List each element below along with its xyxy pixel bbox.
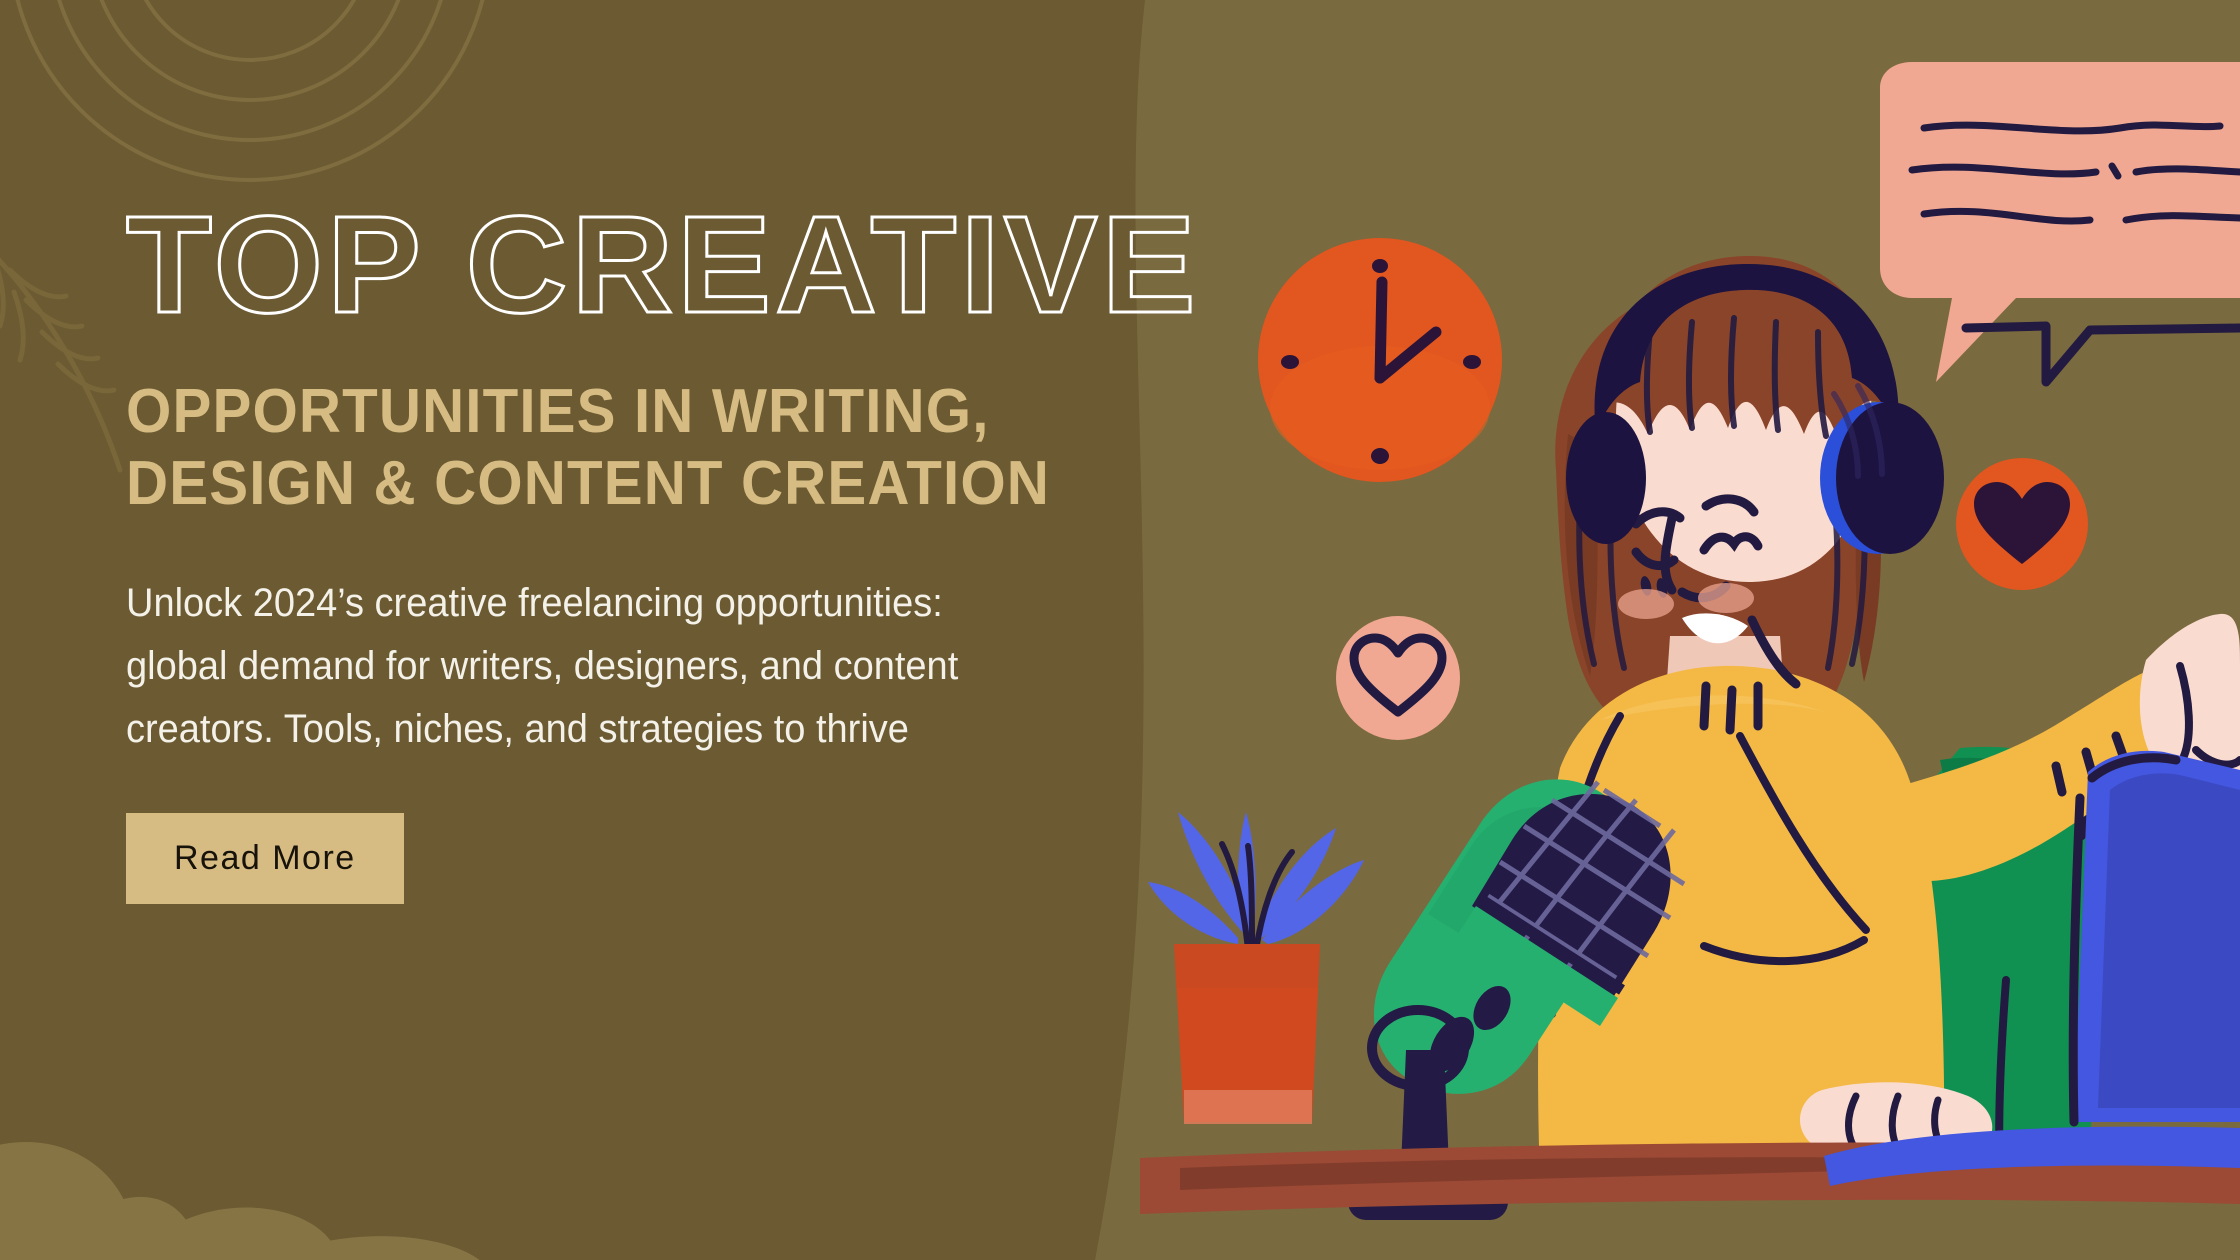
subheadline-line-2: DESIGN & CONTENT CREATION bbox=[126, 448, 1141, 520]
read-more-button[interactable]: Read More bbox=[126, 813, 404, 904]
body-copy: Unlock 2024’s creative freelancing oppor… bbox=[126, 572, 1152, 762]
pink-heart-badge bbox=[1336, 616, 1460, 740]
promo-banner: TOP CREATIVE OPPORTUNITIES IN WRITING, D… bbox=[0, 0, 2240, 1260]
body-copy-line-3: creators. Tools, niches, and strategies … bbox=[126, 698, 1152, 761]
pink-speech-bubble bbox=[1880, 62, 2240, 382]
wall-clock bbox=[1258, 238, 1502, 482]
subheadline-line-1: OPPORTUNITIES IN WRITING, bbox=[126, 376, 1141, 448]
body-copy-line-1: Unlock 2024’s creative freelancing oppor… bbox=[126, 572, 1152, 635]
navy-outline-speech-bubble bbox=[1966, 326, 2240, 382]
subheadline: OPPORTUNITIES IN WRITING, DESIGN & CONTE… bbox=[126, 376, 1141, 520]
body-copy-line-2: global demand for writers, designers, an… bbox=[126, 635, 1152, 698]
text-content: TOP CREATIVE OPPORTUNITIES IN WRITING, D… bbox=[126, 196, 1206, 904]
page-title: TOP CREATIVE bbox=[126, 196, 1228, 334]
orange-heart-badge bbox=[1956, 458, 2088, 590]
